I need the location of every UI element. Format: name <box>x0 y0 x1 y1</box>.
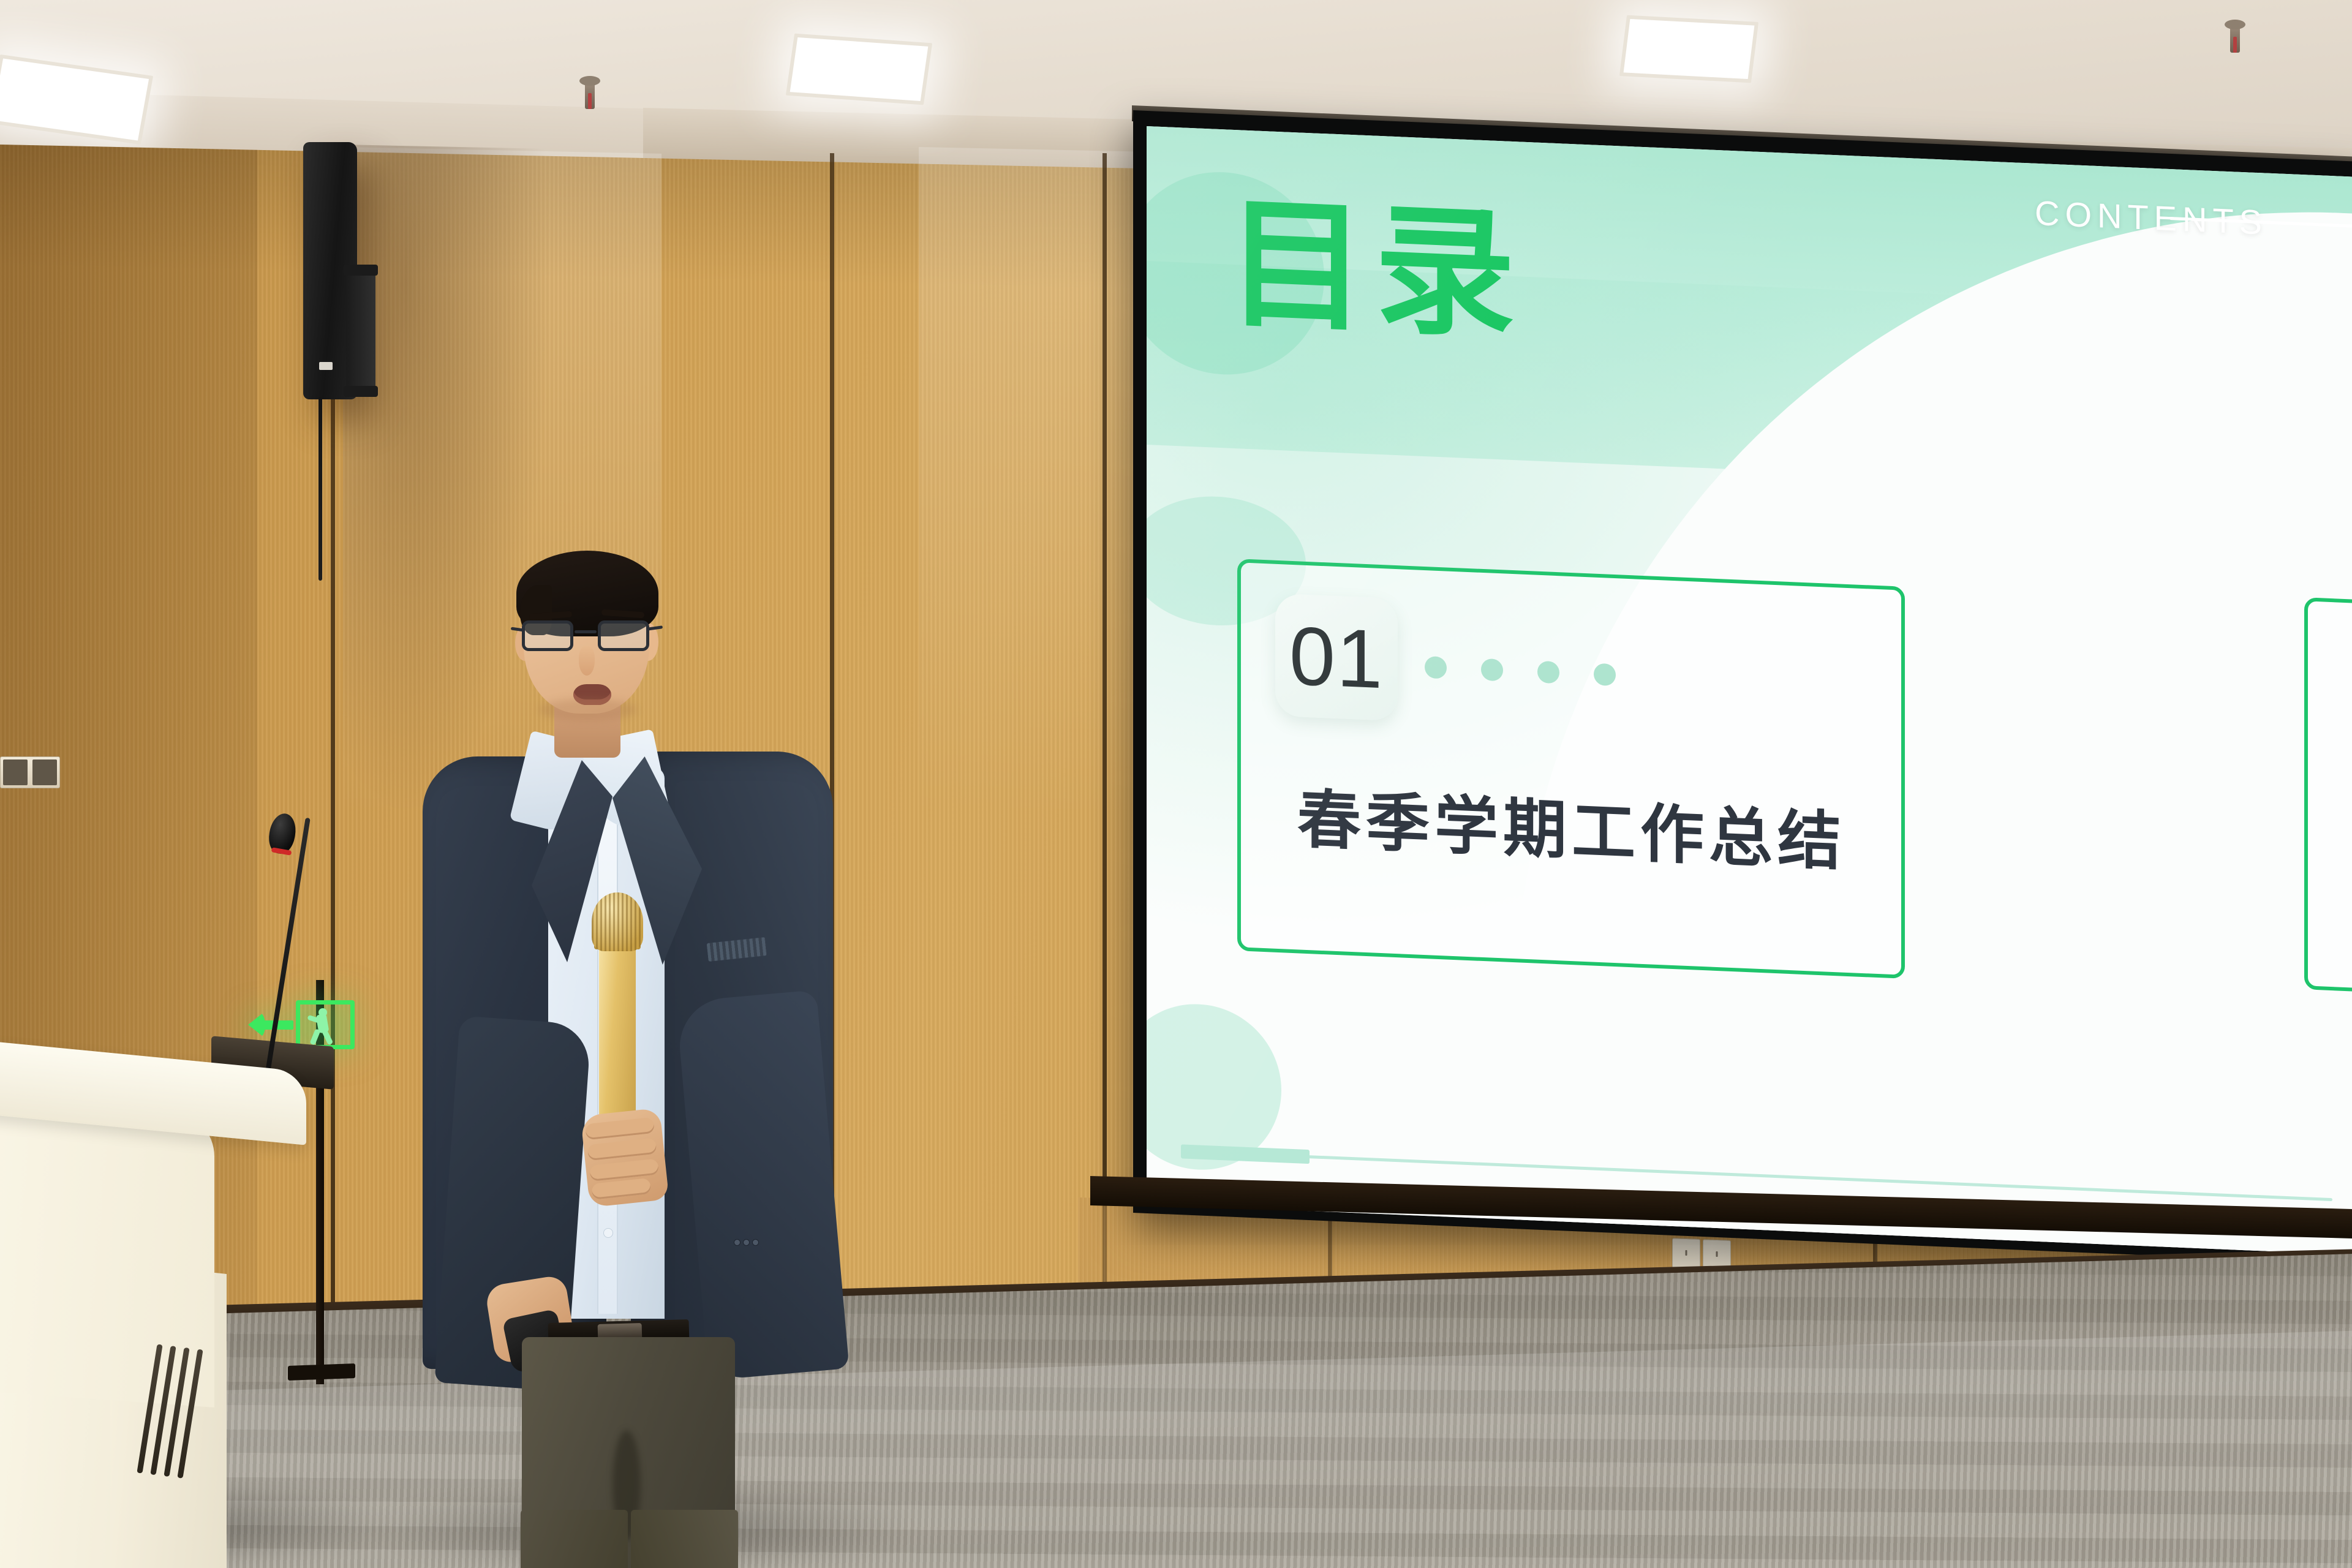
toc-number-badge: 01 <box>1275 594 1398 721</box>
podium <box>0 1035 331 1568</box>
toc-dot <box>1425 656 1447 679</box>
sleeve-buttons <box>734 1239 763 1248</box>
nose <box>579 646 595 676</box>
handheld-microphone-grille <box>592 892 643 951</box>
toc-card[interactable] <box>2304 597 2352 1017</box>
conference-room-photo: CONTENTS 目录 01 春季学期工作总结 <box>0 0 2352 1568</box>
toc-dot <box>1537 661 1559 684</box>
trouser-leg <box>521 1510 628 1568</box>
toc-dots <box>1425 656 1616 686</box>
speaker-mount-bracket <box>346 269 375 392</box>
presentation-slide: CONTENTS 目录 01 春季学期工作总结 <box>1147 126 2352 1255</box>
trouser-leg <box>631 1510 738 1568</box>
wall-switch-plate[interactable] <box>0 756 60 788</box>
toc-dot <box>1594 663 1616 687</box>
ceiling-light-panel <box>786 34 932 105</box>
speaker-brand-logo <box>319 362 333 370</box>
chin-shadow <box>539 699 637 721</box>
handheld-microphone-body <box>599 934 636 1136</box>
slide-title: 目录 <box>1226 194 1523 347</box>
projection-screen: CONTENTS 目录 01 春季学期工作总结 <box>1147 126 2352 1255</box>
toc-card-title: 春季学期工作总结 <box>1297 767 1846 883</box>
shirt-button <box>603 1228 613 1238</box>
toc-number: 01 <box>1289 608 1384 706</box>
hand-holding-microphone <box>581 1108 669 1208</box>
ceiling-light-panel <box>1619 15 1758 83</box>
toc-card[interactable]: 01 春季学期工作总结 <box>1237 559 1905 979</box>
speaker-cable <box>318 397 322 581</box>
sprinkler-head-icon <box>585 81 595 109</box>
presenter <box>429 554 858 1568</box>
toc-dot <box>1481 658 1503 682</box>
sprinkler-head-icon <box>2230 24 2240 53</box>
